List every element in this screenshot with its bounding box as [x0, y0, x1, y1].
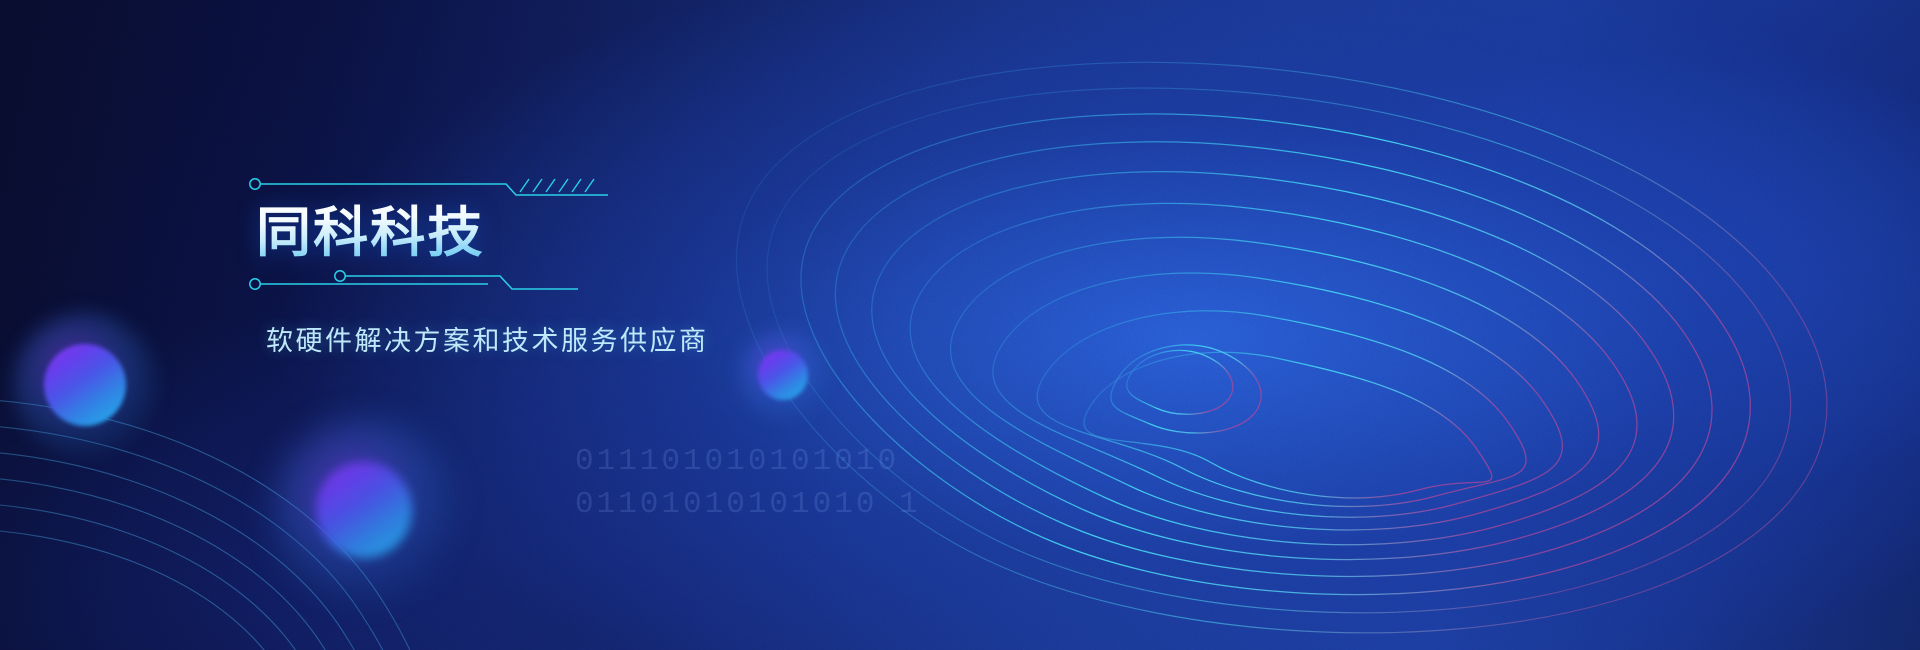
rule-path — [261, 184, 609, 195]
orb-core — [44, 344, 126, 426]
tech-rule-bottom — [248, 268, 868, 298]
rule-endpoint-circle-upper — [335, 271, 345, 281]
brand-title: 同科科技 — [256, 204, 484, 262]
decorative-orb-left — [44, 344, 126, 426]
banner-content: 同科科技 软硬件解决方案和技术服务供应商 — [248, 176, 868, 360]
brand-title-wrap: 同科科技 — [256, 204, 868, 266]
rule-endpoint-circle — [250, 179, 260, 189]
tech-rule-top — [248, 176, 868, 198]
binary-line-2: 01101010101010 1 — [575, 483, 995, 526]
decorative-orb-bottom-left — [316, 462, 412, 558]
binary-line-1: 011101010101010 — [575, 440, 995, 483]
rule-hatch-marks — [520, 179, 594, 192]
rule-endpoint-circle-lower — [250, 279, 260, 289]
binary-watermark: 011101010101010 01101010101010 1 — [575, 440, 995, 526]
rule-path-upper — [346, 276, 579, 289]
orb-halo — [13, 313, 157, 457]
orb-core — [316, 462, 412, 558]
orb-halo — [273, 419, 455, 601]
brand-subtitle: 软硬件解决方案和技术服务供应商 — [266, 324, 868, 360]
hero-banner: 011101010101010 01101010101010 1 同科科技 — [0, 0, 1920, 650]
